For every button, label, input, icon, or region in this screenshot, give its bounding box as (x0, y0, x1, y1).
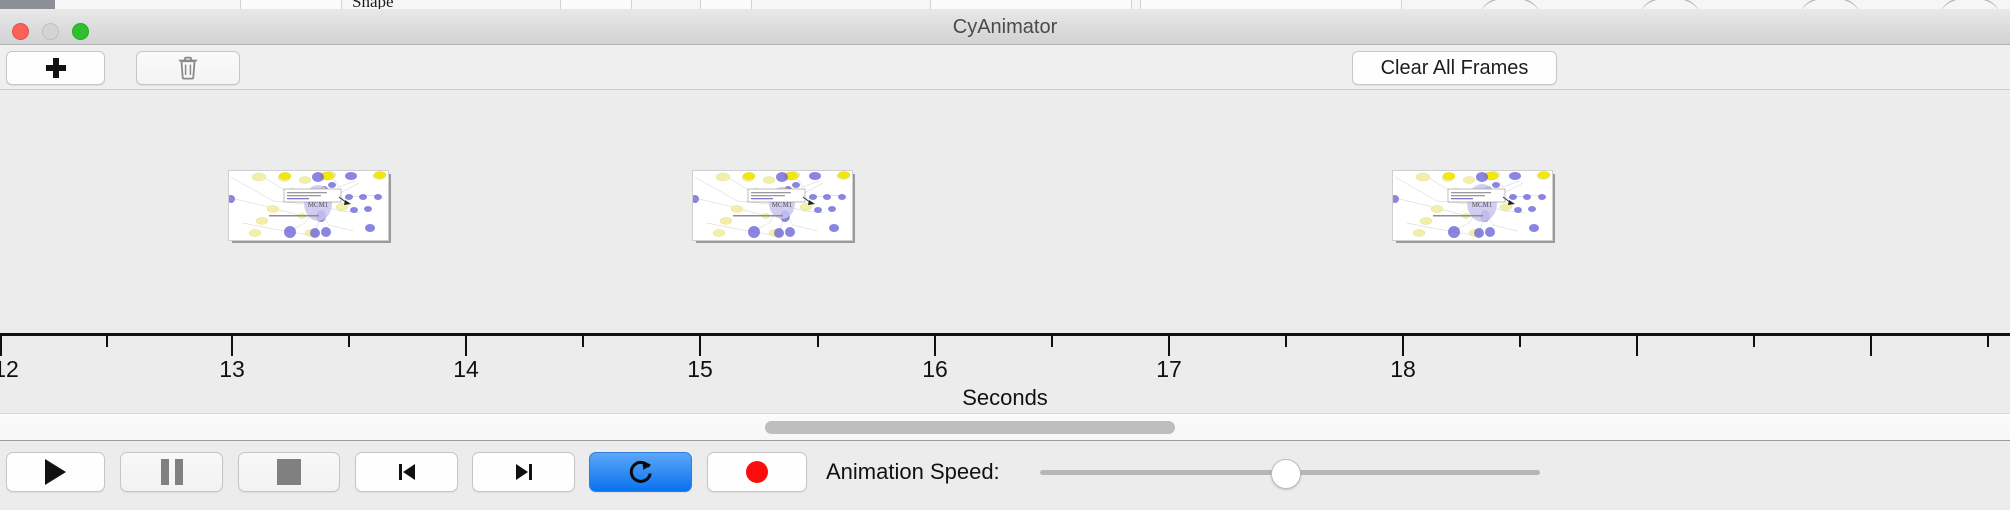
timeline-frame-thumbnail[interactable]: MCM1 (1392, 170, 1555, 243)
axis-tick-major (1636, 336, 1638, 356)
background-chip (560, 0, 632, 9)
timeline-axis-line (0, 333, 2010, 336)
window-title: CyAnimator (0, 9, 2010, 45)
axis-tick-label: 15 (687, 356, 713, 383)
clear-all-frames-label: Clear All Frames (1381, 57, 1529, 80)
axis-title-seconds: Seconds (0, 385, 2010, 411)
axis-tick-minor (1987, 336, 1989, 347)
network-graph-preview: MCM1 (1393, 171, 1552, 240)
axis-tick-major (1870, 336, 1872, 356)
svg-text:MCM1: MCM1 (772, 201, 793, 209)
play-button[interactable] (6, 452, 105, 492)
cyanimator-window: Shape CyAnimator Clear All Frames (0, 0, 2010, 510)
axis-tick-minor (817, 336, 819, 347)
axis-tick-major (231, 336, 233, 356)
background-toolbar-chip (0, 0, 55, 9)
stop-icon (277, 459, 301, 485)
axis-tick-minor (582, 336, 584, 347)
last-frame-button[interactable] (472, 452, 575, 492)
pause-button[interactable] (120, 452, 223, 492)
record-icon (744, 459, 770, 485)
stop-button[interactable] (238, 452, 340, 492)
delete-frame-button[interactable] (136, 51, 240, 85)
axis-tick-label: 12 (0, 356, 19, 383)
axis-tick-major (1402, 336, 1404, 356)
axis-tick-label: 16 (922, 356, 948, 383)
clear-all-frames-button[interactable]: Clear All Frames (1352, 51, 1557, 85)
plus-icon (46, 58, 66, 78)
axis-tick-label: 17 (1156, 356, 1182, 383)
frame-image: MCM1 (228, 170, 389, 241)
skip-to-end-icon (511, 459, 537, 485)
axis-tick-minor (348, 336, 350, 347)
axis-tick-minor (106, 336, 108, 347)
timeline-panel[interactable]: MCM1 (0, 90, 2010, 413)
network-graph-preview: MCM1 (229, 171, 388, 240)
axis-tick-label: 18 (1390, 356, 1416, 383)
background-chip (1140, 0, 1402, 9)
axis-tick-major (0, 336, 2, 356)
frame-image: MCM1 (692, 170, 853, 241)
axis-tick-major (465, 336, 467, 356)
add-frame-button[interactable] (6, 51, 105, 85)
svg-text:MCM1: MCM1 (308, 201, 329, 209)
frame-image: MCM1 (1392, 170, 1553, 241)
svg-text:MCM1: MCM1 (1472, 201, 1493, 209)
loop-icon (627, 458, 655, 486)
trash-icon (177, 56, 199, 80)
axis-tick-minor (1051, 336, 1053, 347)
timeline-frame-thumbnail[interactable]: MCM1 (692, 170, 855, 243)
title-bar: CyAnimator (0, 9, 2010, 45)
axis-tick-minor (1285, 336, 1287, 347)
background-chip (930, 0, 1132, 9)
axis-tick-label: 13 (219, 356, 245, 383)
first-frame-button[interactable] (355, 452, 458, 492)
pause-icon (161, 459, 183, 485)
timeline-scrollbar-thumb[interactable] (765, 421, 1175, 434)
skip-to-start-icon (394, 459, 420, 485)
timeline-frame-thumbnail[interactable]: MCM1 (228, 170, 391, 243)
axis-tick-major (699, 336, 701, 356)
play-icon (45, 459, 66, 485)
axis-tick-minor (1519, 336, 1521, 347)
background-chip (240, 0, 342, 9)
record-button[interactable] (707, 452, 807, 492)
axis-tick-major (1168, 336, 1170, 356)
timeline-scrollbar[interactable] (0, 413, 2010, 441)
playback-control-bar: Animation Speed: (0, 442, 2010, 510)
axis-tick-major (934, 336, 936, 356)
animation-speed-slider-thumb[interactable] (1271, 459, 1301, 489)
background-chip (700, 0, 752, 9)
axis-tick-label: 14 (453, 356, 479, 383)
toolbar: Clear All Frames (0, 46, 2010, 90)
network-graph-preview: MCM1 (693, 171, 852, 240)
animation-speed-label: Animation Speed: (826, 452, 1000, 492)
axis-tick-minor (1753, 336, 1755, 347)
loop-button[interactable] (589, 452, 692, 492)
